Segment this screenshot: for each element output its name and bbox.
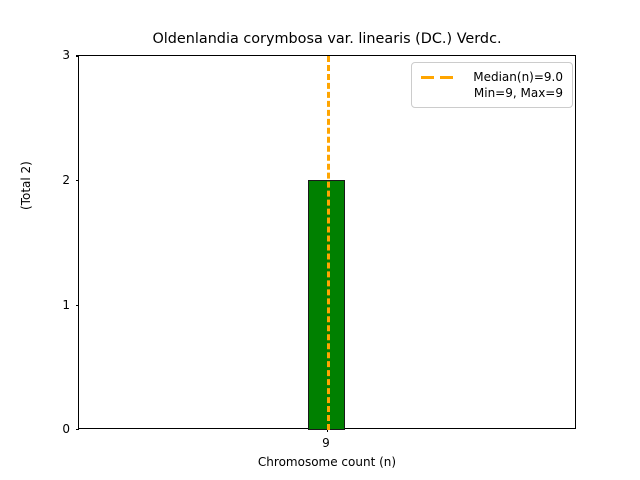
legend: Median(n)=9.0 Min=9, Max=9: [411, 62, 573, 108]
x-tick-label-9: 9: [306, 437, 346, 449]
legend-label-minmax: Min=9, Max=9: [464, 85, 563, 101]
y-tick-mark-0: [76, 429, 80, 430]
y-tick-mark-3: [76, 55, 80, 56]
y-tick-label-2: 2: [50, 174, 70, 186]
legend-dash-segment: [421, 76, 434, 79]
chart-figure: Oldenlandia corymbosa var. linearis (DC.…: [0, 0, 640, 480]
y-tick-mark-1: [76, 305, 80, 306]
y-tick-label-3: 3: [50, 49, 70, 61]
y-tick-mark-2: [76, 180, 80, 181]
legend-median-swatch: [420, 70, 456, 85]
legend-label-median: Median(n)=9.0: [464, 69, 563, 85]
plot-area: [78, 55, 576, 429]
legend-label-group: Median(n)=9.0 Min=9, Max=9: [464, 69, 563, 101]
x-axis-label: Chromosome count (n): [78, 456, 576, 469]
chart-title: Oldenlandia corymbosa var. linearis (DC.…: [78, 31, 576, 48]
legend-dash-segment: [440, 76, 453, 79]
median-line: [327, 56, 330, 430]
y-axis-label-total: (Total 2): [20, 161, 33, 210]
y-tick-label-1: 1: [50, 299, 70, 311]
y-tick-label-0: 0: [50, 423, 70, 435]
